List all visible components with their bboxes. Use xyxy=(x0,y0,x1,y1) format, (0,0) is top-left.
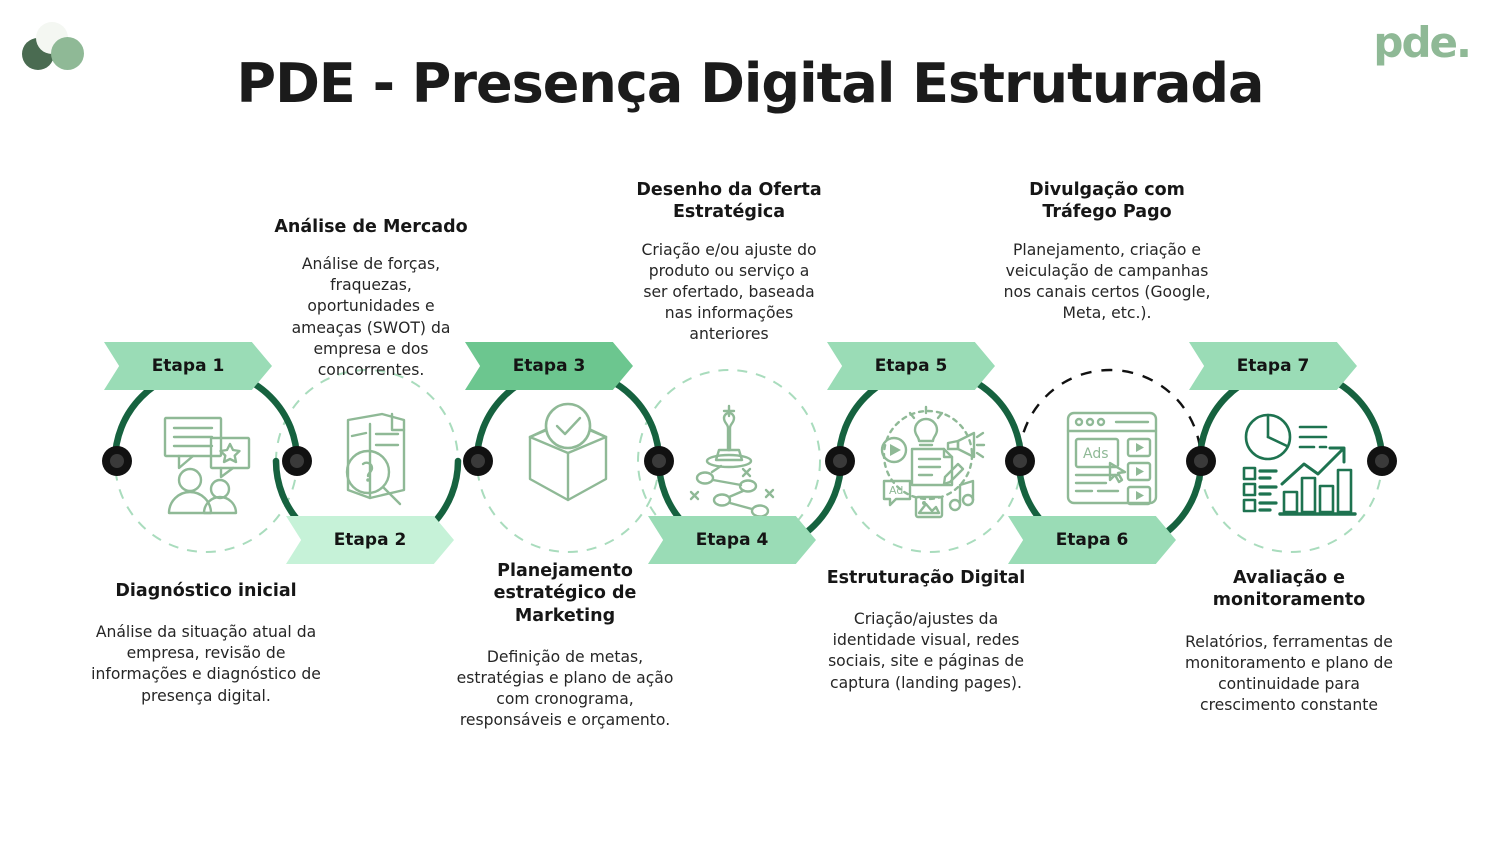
caption-step-4: Desenho da Oferta Estratégica Criação e/… xyxy=(636,179,822,345)
step-body: Definição de metas, estratégias e plano … xyxy=(452,647,678,731)
box-check-icon xyxy=(530,404,606,500)
badge-etapa-1[interactable]: Etapa 1 xyxy=(104,342,272,390)
step-body: Criação/ajustes da identidade visual, re… xyxy=(820,609,1032,693)
caption-step-1: Diagnóstico inicial Análise da situação … xyxy=(88,580,324,707)
step-heading: Planejamento estratégico de Marketing xyxy=(452,560,678,627)
badge-etapa-2[interactable]: Etapa 2 xyxy=(286,516,454,564)
svg-text:Ads: Ads xyxy=(1083,446,1109,462)
badge-label: Etapa 2 xyxy=(334,530,407,550)
badge-etapa-4[interactable]: Etapa 4 xyxy=(648,516,816,564)
analytics-charts-icon xyxy=(1244,415,1355,514)
ads-browser-icon: Ads xyxy=(1068,413,1156,504)
step-heading: Desenho da Oferta Estratégica xyxy=(636,179,822,224)
step-heading: Avaliação e monitoramento xyxy=(1178,567,1400,612)
badge-label: Etapa 7 xyxy=(1237,356,1310,376)
step-heading: Divulgação com Tráfego Pago xyxy=(1003,179,1211,224)
badge-label: Etapa 3 xyxy=(513,356,586,376)
caption-step-2: Análise de Mercado Análise de forças, fr… xyxy=(272,216,470,381)
process-flow-graphic: .ig{fill:none;stroke:#8fb996;stroke-widt… xyxy=(0,0,1500,844)
badge-etapa-3[interactable]: Etapa 3 xyxy=(465,342,633,390)
flow-nodes xyxy=(102,446,1397,476)
svg-text:Ad: Ad xyxy=(889,484,903,497)
step-heading: Análise de Mercado xyxy=(272,216,470,238)
badge-etapa-6[interactable]: Etapa 6 xyxy=(1008,516,1176,564)
document-search-icon xyxy=(347,414,404,504)
step-body: Análise de forças, fraquezas, oportunida… xyxy=(272,254,470,380)
chess-strategy-icon xyxy=(691,406,773,517)
badge-etapa-5[interactable]: Etapa 5 xyxy=(827,342,995,390)
infographic-canvas: pde. PDE - Presença Digital Estruturada … xyxy=(0,0,1500,844)
caption-step-5: Estruturação Digital Criação/ajustes da … xyxy=(820,567,1032,694)
step-heading: Diagnóstico inicial xyxy=(88,580,324,602)
content-creation-icon: Ad xyxy=(882,407,984,517)
badge-label: Etapa 6 xyxy=(1056,530,1129,550)
badge-etapa-7[interactable]: Etapa 7 xyxy=(1189,342,1357,390)
step-body: Planejamento, criação e veiculação de ca… xyxy=(1003,240,1211,324)
step-body: Relatórios, ferramentas de monitoramento… xyxy=(1178,632,1400,716)
chat-people-icon xyxy=(165,418,249,513)
caption-step-7: Avaliação e monitoramento Relatórios, fe… xyxy=(1178,567,1400,716)
badge-label: Etapa 4 xyxy=(696,530,769,550)
caption-step-3: Planejamento estratégico de Marketing De… xyxy=(452,560,678,731)
step-body: Criação e/ou ajuste do produto ou serviç… xyxy=(636,240,822,345)
badge-label: Etapa 1 xyxy=(152,356,225,376)
step-heading: Estruturação Digital xyxy=(820,567,1032,589)
caption-step-6: Divulgação com Tráfego Pago Planejamento… xyxy=(1003,179,1211,324)
badge-label: Etapa 5 xyxy=(875,356,948,376)
step-body: Análise da situação atual da empresa, re… xyxy=(88,622,324,706)
